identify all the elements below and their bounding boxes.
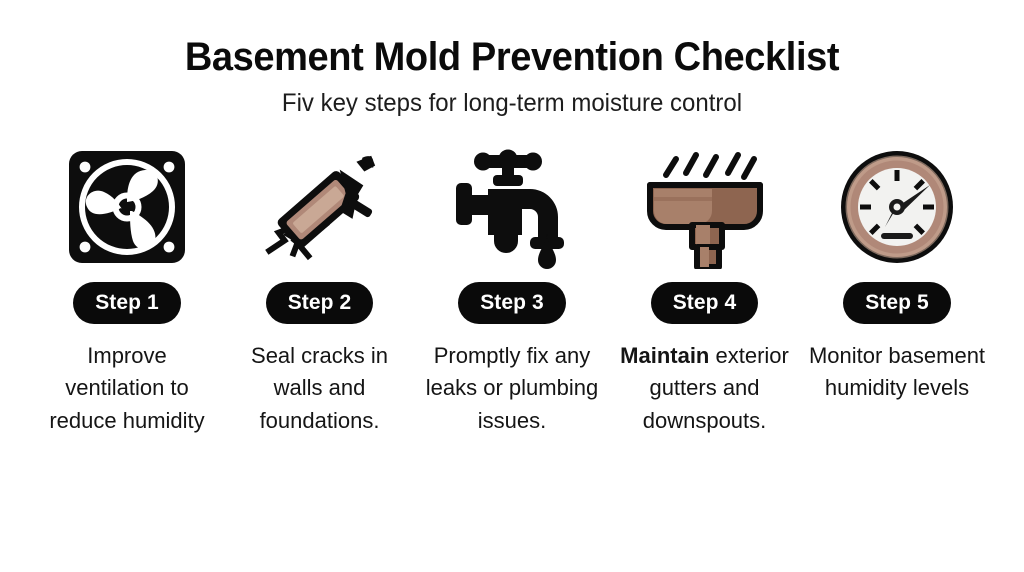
step-caption-5: Monitor basement humidity levels (808, 340, 986, 405)
step-card-1: Step 1 Improve ventilation to reduce hum… (34, 142, 220, 438)
infographic-root: Basement Mold Prevention Checklist Fiv k… (0, 0, 1024, 572)
caulk-gun-crack-icon (255, 142, 385, 272)
step-caption-3: Promptly fix any leaks or plumbing issue… (423, 340, 601, 438)
step-badge-3: Step 3 (458, 282, 566, 324)
steps-row: Step 1 Improve ventilation to reduce hum… (0, 142, 1024, 438)
ventilation-fan-icon (62, 142, 192, 272)
step-caption-1: Improve ventilation to reduce humidity (38, 340, 216, 438)
step-badge-5: Step 5 (843, 282, 951, 324)
step-caption-text-1: Improve ventilation to reduce humidity (49, 343, 204, 433)
step-caption-text-3: Promptly fix any leaks or plumbing issue… (426, 343, 598, 433)
page-title: Basement Mold Prevention Checklist (26, 36, 999, 79)
gutter-downspout-rain-icon (640, 142, 770, 272)
step-card-4: Step 4 Maintain exterior gutters and dow… (612, 142, 798, 438)
rain-lines (666, 145, 754, 177)
step-caption-text-5: Monitor basement humidity levels (809, 343, 985, 401)
step-caption-text-2: Seal cracks in walls and foundations. (251, 343, 388, 433)
header: Basement Mold Prevention Checklist Fiv k… (0, 0, 1024, 118)
step-badge-4: Step 4 (651, 282, 759, 324)
humidity-gauge-icon (832, 142, 962, 272)
step-card-2: Step 2 Seal cracks in walls and foundati… (227, 142, 413, 438)
step-caption-4: Maintain exterior gutters and downspouts… (616, 340, 794, 438)
step-caption-2: Seal cracks in walls and foundations. (231, 340, 409, 438)
step-badge-1: Step 1 (73, 282, 181, 324)
step-caption-lead-4: Maintain (620, 343, 709, 368)
page-subtitle: Fiv key steps for long-term moisture con… (20, 89, 1003, 118)
step-card-3: Step 3 Promptly fix any leaks or plumbin… (419, 142, 605, 438)
step-card-5: Step 5 Monitor basement humidity levels (804, 142, 990, 405)
step-badge-2: Step 2 (266, 282, 374, 324)
dripping-faucet-icon (447, 142, 577, 272)
